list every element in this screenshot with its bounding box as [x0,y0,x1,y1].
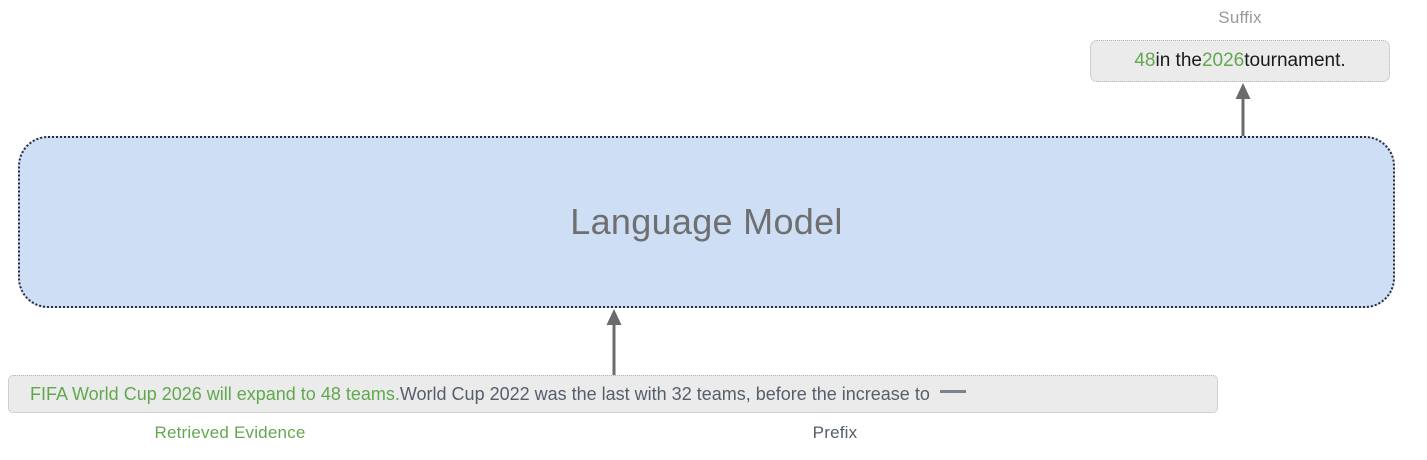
caption-retrieved-evidence: Retrieved Evidence [55,423,405,443]
suffix-token-48: 48 [1134,50,1155,72]
language-model-box: Language Model [18,136,1395,308]
suffix-label: Suffix [1090,8,1390,28]
blank-placeholder [940,390,966,393]
prefix-box: FIFA World Cup 2026 will expand to 48 te… [8,375,1218,413]
arrow-model-to-suffix [1228,82,1258,138]
suffix-box: 48 in the 2026 tournament. [1090,40,1390,82]
prefix-text: World Cup 2022 was the last with 32 team… [400,384,930,405]
retrieved-evidence-text: FIFA World Cup 2026 will expand to 48 te… [30,384,400,405]
caption-prefix: Prefix [760,423,910,443]
suffix-token-tournament: tournament. [1244,50,1345,72]
language-model-title: Language Model [570,201,842,243]
suffix-token-2026: 2026 [1202,50,1244,72]
suffix-token-in-the: in the [1155,50,1201,72]
arrow-prefix-to-model [599,308,629,376]
diagram-canvas: Suffix 48 in the 2026 tournament. Langua… [0,0,1427,460]
